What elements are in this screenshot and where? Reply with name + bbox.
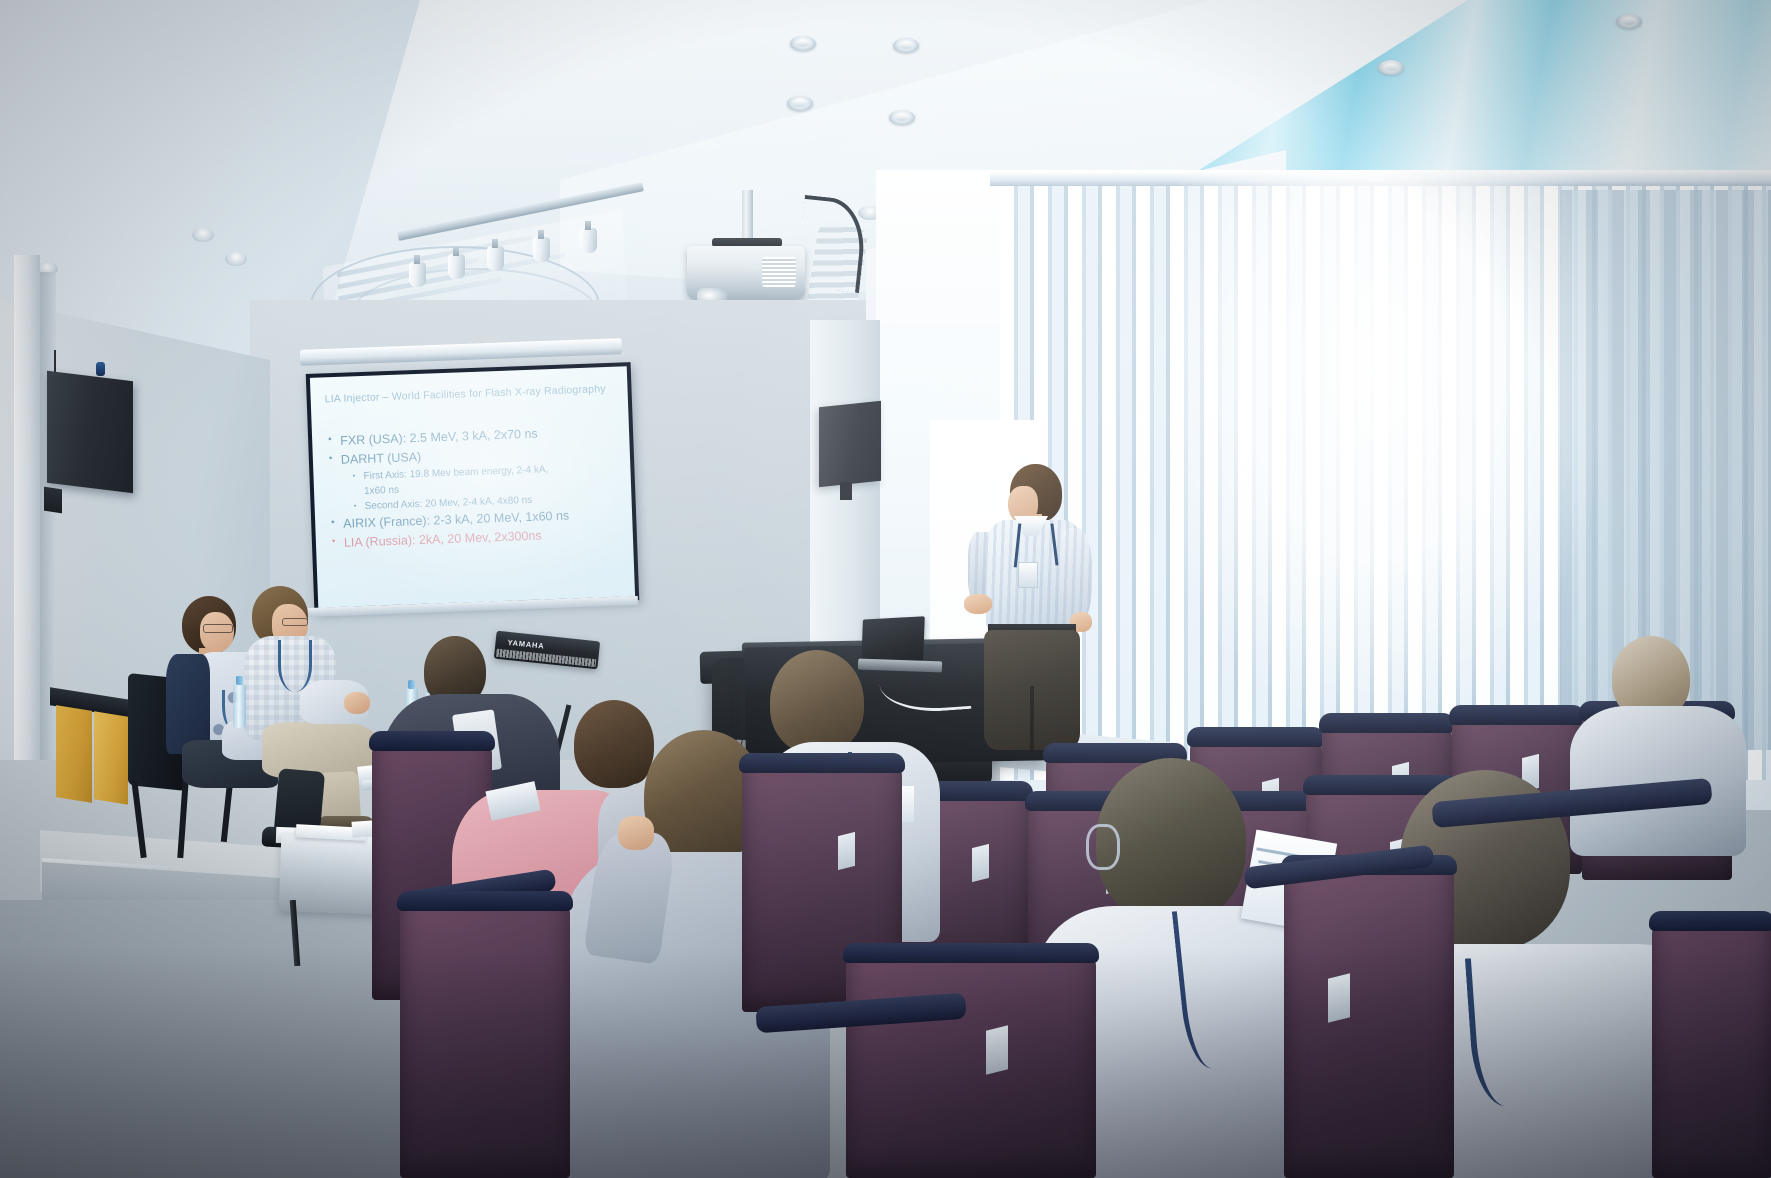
speaker-bracket-left: [44, 487, 62, 514]
glasses-icon: [282, 618, 308, 626]
speaker-mount-knob: [96, 362, 105, 376]
audience-member-7-body: [1570, 706, 1746, 856]
speaker-bracket-right: [840, 482, 852, 500]
presenter-leg-seam: [1030, 686, 1034, 750]
ceiling-spot-icon: [192, 228, 214, 242]
seat-number-tag: [838, 832, 855, 870]
downlight-icon: [790, 36, 816, 51]
wall-speaker-right: [819, 401, 881, 488]
seat-number-tag: [972, 844, 989, 882]
seat-headrest: [369, 731, 495, 751]
seat-headrest: [397, 891, 573, 911]
auditorium-seat[interactable]: [1284, 864, 1454, 1178]
projector-vent: [762, 257, 796, 287]
lanyard: [278, 640, 312, 692]
session-chair-man-hand: [344, 692, 370, 714]
track-spotlight-icon: [487, 246, 504, 271]
slide-title: LIA Injector – World Facilities for Flas…: [324, 383, 614, 407]
audience-member-4-head: [770, 650, 864, 754]
auditorium-photo: LIA Injector – World Facilities for Flas…: [0, 0, 1771, 1178]
ceiling-spot-icon: [225, 252, 247, 266]
session-chair-woman-vest: [166, 654, 210, 754]
track-spotlight-icon: [533, 237, 550, 262]
audience-member-2-hair-bun: [616, 744, 650, 784]
track-spotlight-icon: [580, 228, 597, 253]
slide-bullet-list: FXR (USA): 2.5 MeV, 3 kA, 2x70 ns DARHT …: [320, 422, 634, 554]
wall-speaker-left: [47, 371, 133, 494]
slide-surface: LIA Injector – World Facilities for Flas…: [310, 366, 635, 607]
conference-badge: [1018, 562, 1038, 588]
presenter-right-arm: [1058, 528, 1092, 624]
seat-headrest: [1449, 705, 1585, 725]
glasses-icon: [203, 624, 233, 633]
seat-headrest: [1319, 713, 1455, 733]
auditorium-seat[interactable]: [1652, 920, 1771, 1178]
glasses-icon: [1086, 824, 1120, 870]
panel-chair-legs: [134, 780, 238, 860]
track-spotlight-icon: [448, 254, 465, 279]
water-bottle: [233, 684, 246, 728]
yamaha-logo: YAMAHA: [507, 638, 545, 651]
audience-member-3-hand: [618, 816, 654, 850]
projection-screen: LIA Injector – World Facilities for Flas…: [306, 362, 640, 612]
auditorium-seat[interactable]: [846, 952, 1096, 1178]
seat-headrest: [1187, 727, 1325, 747]
downlight-icon: [889, 110, 915, 125]
seat-headrest: [739, 753, 905, 773]
projector-mount-pole: [742, 190, 753, 242]
yellow-panel: [56, 705, 92, 803]
seat-number-tag: [986, 1025, 1008, 1074]
seat-headrest: [843, 943, 1099, 963]
yellow-panel: [94, 711, 128, 804]
downlight-icon: [893, 38, 919, 53]
seat-headrest: [1649, 911, 1771, 931]
seat-number-tag: [1328, 973, 1350, 1022]
downlight-icon: [1378, 60, 1404, 75]
track-spotlight-icon: [409, 262, 426, 287]
presenter-left-hand: [964, 594, 992, 614]
auditorium-seat[interactable]: [400, 900, 570, 1178]
downlight-icon: [787, 96, 813, 111]
downlight-icon: [1616, 14, 1642, 29]
window-glare: [1180, 170, 1610, 730]
